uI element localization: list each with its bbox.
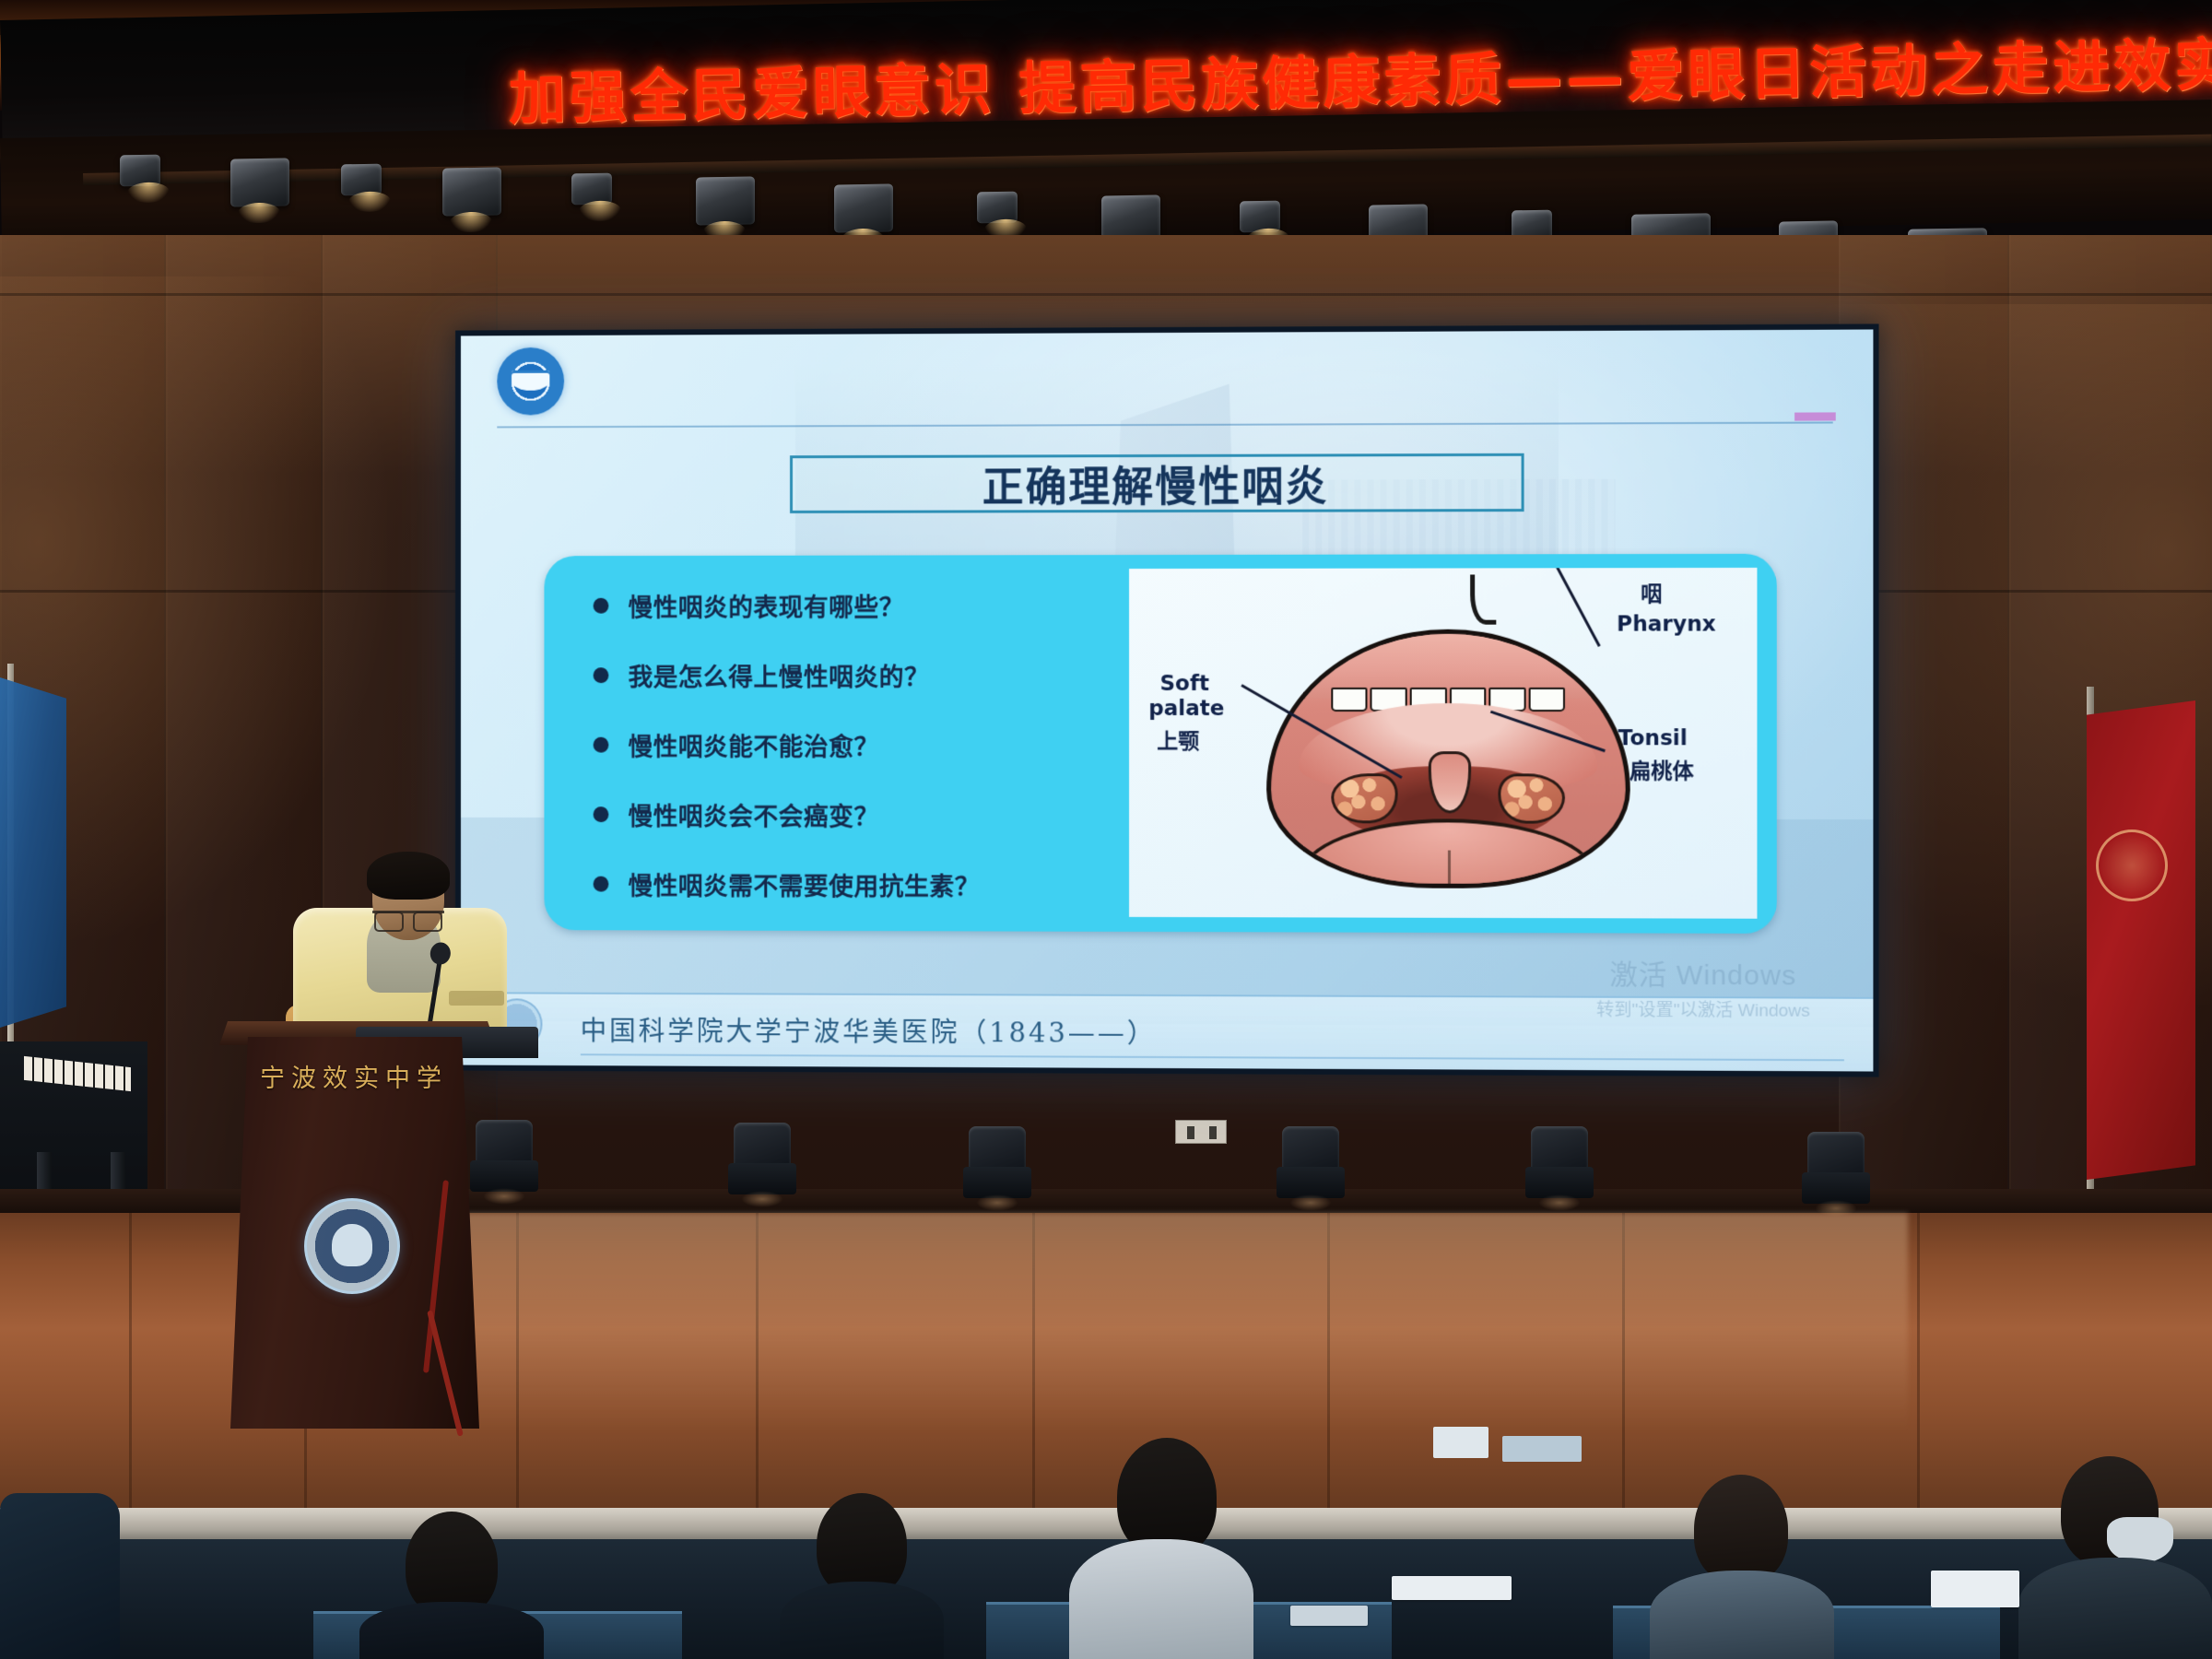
slide-title-box: 正确理解慢性咽炎: [790, 453, 1524, 513]
stage-floor-light: [470, 1120, 538, 1199]
spotlight-icon: [571, 173, 612, 206]
label-pharynx-en: Pharynx: [1617, 613, 1716, 637]
audience-member: [1650, 1475, 1834, 1659]
watermark-line-2: 转到"设置"以激活 Windows: [1596, 996, 1810, 1022]
wall-socket: [1175, 1120, 1227, 1144]
spotlight-icon: [442, 167, 501, 216]
tongue: [1299, 818, 1597, 888]
stage-floor-light: [1525, 1126, 1594, 1206]
bullet-list: 慢性咽炎的表现有哪些？ 我是怎么得上慢性咽炎的？ 慢性咽炎能不能治愈？ 慢性咽炎…: [593, 587, 1119, 903]
audience-member: [2018, 1456, 2212, 1659]
spotlight-icon: [120, 155, 160, 187]
audience-head: [1117, 1438, 1217, 1556]
slide-header-accent: [1794, 413, 1836, 421]
lecture-hall-scene: 加强全民爱眼意识 提高民族健康素质——爱眼日活动之走进效实: [0, 0, 2212, 1659]
watermark-line-1: 激活 Windows: [1596, 952, 1810, 994]
floor-plank-seam: [129, 1213, 132, 1517]
speaker-badge: [449, 991, 504, 1006]
leader-line-pharynx: [1504, 568, 1601, 647]
audience-paper: [1392, 1576, 1512, 1600]
school-emblem-icon: [304, 1198, 400, 1294]
spotlight-icon: [834, 183, 893, 232]
audience-head: [1694, 1475, 1788, 1583]
flag-right: [2087, 700, 2195, 1180]
bullet-dot-icon: [593, 877, 608, 892]
slide-footer-divider: [581, 1053, 1845, 1061]
spotlight-icon: [341, 164, 382, 196]
bullet-label: 慢性咽炎的表现有哪些？: [629, 587, 904, 623]
spotlight-icon: [696, 176, 755, 225]
bullet-dot-icon: [593, 737, 608, 753]
flag-emblem-icon: [2096, 829, 2168, 901]
slide-footer-text: 中国科学院大学宁波华美医院（1843——）: [581, 1010, 1157, 1051]
audience-member: [1069, 1438, 1253, 1659]
podium-school-name: 宁波效实中学: [254, 1058, 453, 1094]
stage-floor-light: [1802, 1132, 1870, 1211]
stage-paper: [1502, 1436, 1582, 1462]
spotlight-icon: [1240, 201, 1280, 233]
audience-paper: [1931, 1571, 2019, 1607]
bullet-label: 我是怎么得上慢性咽炎的？: [629, 657, 930, 693]
label-tonsil-cn: 扁桃体: [1630, 760, 1694, 784]
stage-floor-light: [1277, 1126, 1345, 1206]
audience-member: [774, 1493, 949, 1659]
label-tonsil-en: Tonsil: [1618, 727, 1688, 751]
label-pharynx-cn: 咽: [1641, 583, 1662, 607]
flag-left: [0, 677, 66, 1028]
hospital-emblem-icon: [497, 347, 564, 416]
foreground-chair: [0, 1493, 120, 1659]
bullet-label: 慢性咽炎能不能治愈？: [629, 727, 879, 763]
floor-plank-seam: [1917, 1213, 1920, 1517]
bullet-dot-icon: [593, 806, 608, 822]
list-item: 慢性咽炎需不需要使用抗生素？: [593, 866, 1119, 903]
list-item: 慢性咽炎的表现有哪些？: [593, 587, 1119, 624]
list-item: 慢性咽炎会不会癌变？: [593, 796, 1119, 833]
slide-content-panel: 慢性咽炎的表现有哪些？ 我是怎么得上慢性咽炎的？ 慢性咽炎能不能治愈？ 慢性咽炎…: [544, 554, 1777, 934]
face-mask-icon: [2107, 1517, 2173, 1563]
audience-shoulders: [2018, 1558, 2212, 1659]
bullet-label: 慢性咽炎需不需要使用抗生素？: [629, 866, 980, 903]
label-soft-palate-en: Soft: [1160, 673, 1209, 697]
windows-activation-watermark: 激活 Windows 转到"设置"以激活 Windows: [1596, 952, 1810, 1022]
glasses-icon: [372, 911, 444, 925]
tonsil-right: [1498, 773, 1565, 823]
tongue-midline: [1448, 851, 1451, 888]
audience-shoulders: [359, 1602, 544, 1659]
label-soft-palate-cn: 上颚: [1157, 731, 1199, 755]
wall-seam: [0, 293, 2212, 296]
tooth: [1528, 688, 1565, 712]
audience-shoulders: [780, 1582, 944, 1659]
projection-screen: 正确理解慢性咽炎 慢性咽炎的表现有哪些？ 我是怎么得上慢性咽炎的？ 慢性咽炎能不…: [455, 324, 1878, 1077]
list-item: 我是怎么得上慢性咽炎的？: [593, 657, 1119, 693]
stage-paper: [1433, 1427, 1488, 1458]
audience-shoulders: [1069, 1539, 1253, 1659]
audience-head: [406, 1512, 498, 1617]
speaker-hair: [367, 852, 450, 900]
throat-anatomy-diagram: Soft palate 上颚 咽 Pharynx Tonsil 扁桃体: [1129, 568, 1758, 919]
slide-title: 正确理解慢性咽炎: [982, 453, 1329, 514]
open-mouth-illustration: [1266, 629, 1630, 888]
spotlight-icon: [230, 158, 289, 206]
bullet-label: 慢性咽炎会不会癌变？: [629, 796, 879, 832]
audience-paper: [1290, 1606, 1368, 1626]
audience-member: [359, 1512, 544, 1659]
tooth: [1331, 688, 1368, 712]
stage-floor-light: [963, 1126, 1031, 1206]
stage-floor-light: [728, 1123, 796, 1202]
spotlight-icon: [977, 192, 1018, 224]
tonsil-left: [1331, 773, 1398, 823]
bullet-dot-icon: [593, 597, 608, 613]
label-soft-palate-en2: palate: [1148, 698, 1224, 722]
audience-shoulders: [1650, 1571, 1834, 1659]
nasal-curve-icon: [1470, 575, 1496, 625]
list-item: 慢性咽炎能不能治愈？: [593, 727, 1119, 763]
slide-canvas: 正确理解慢性咽炎 慢性咽炎的表现有哪些？ 我是怎么得上慢性咽炎的？ 慢性咽炎能不…: [461, 329, 1873, 1071]
bullet-dot-icon: [593, 667, 608, 683]
